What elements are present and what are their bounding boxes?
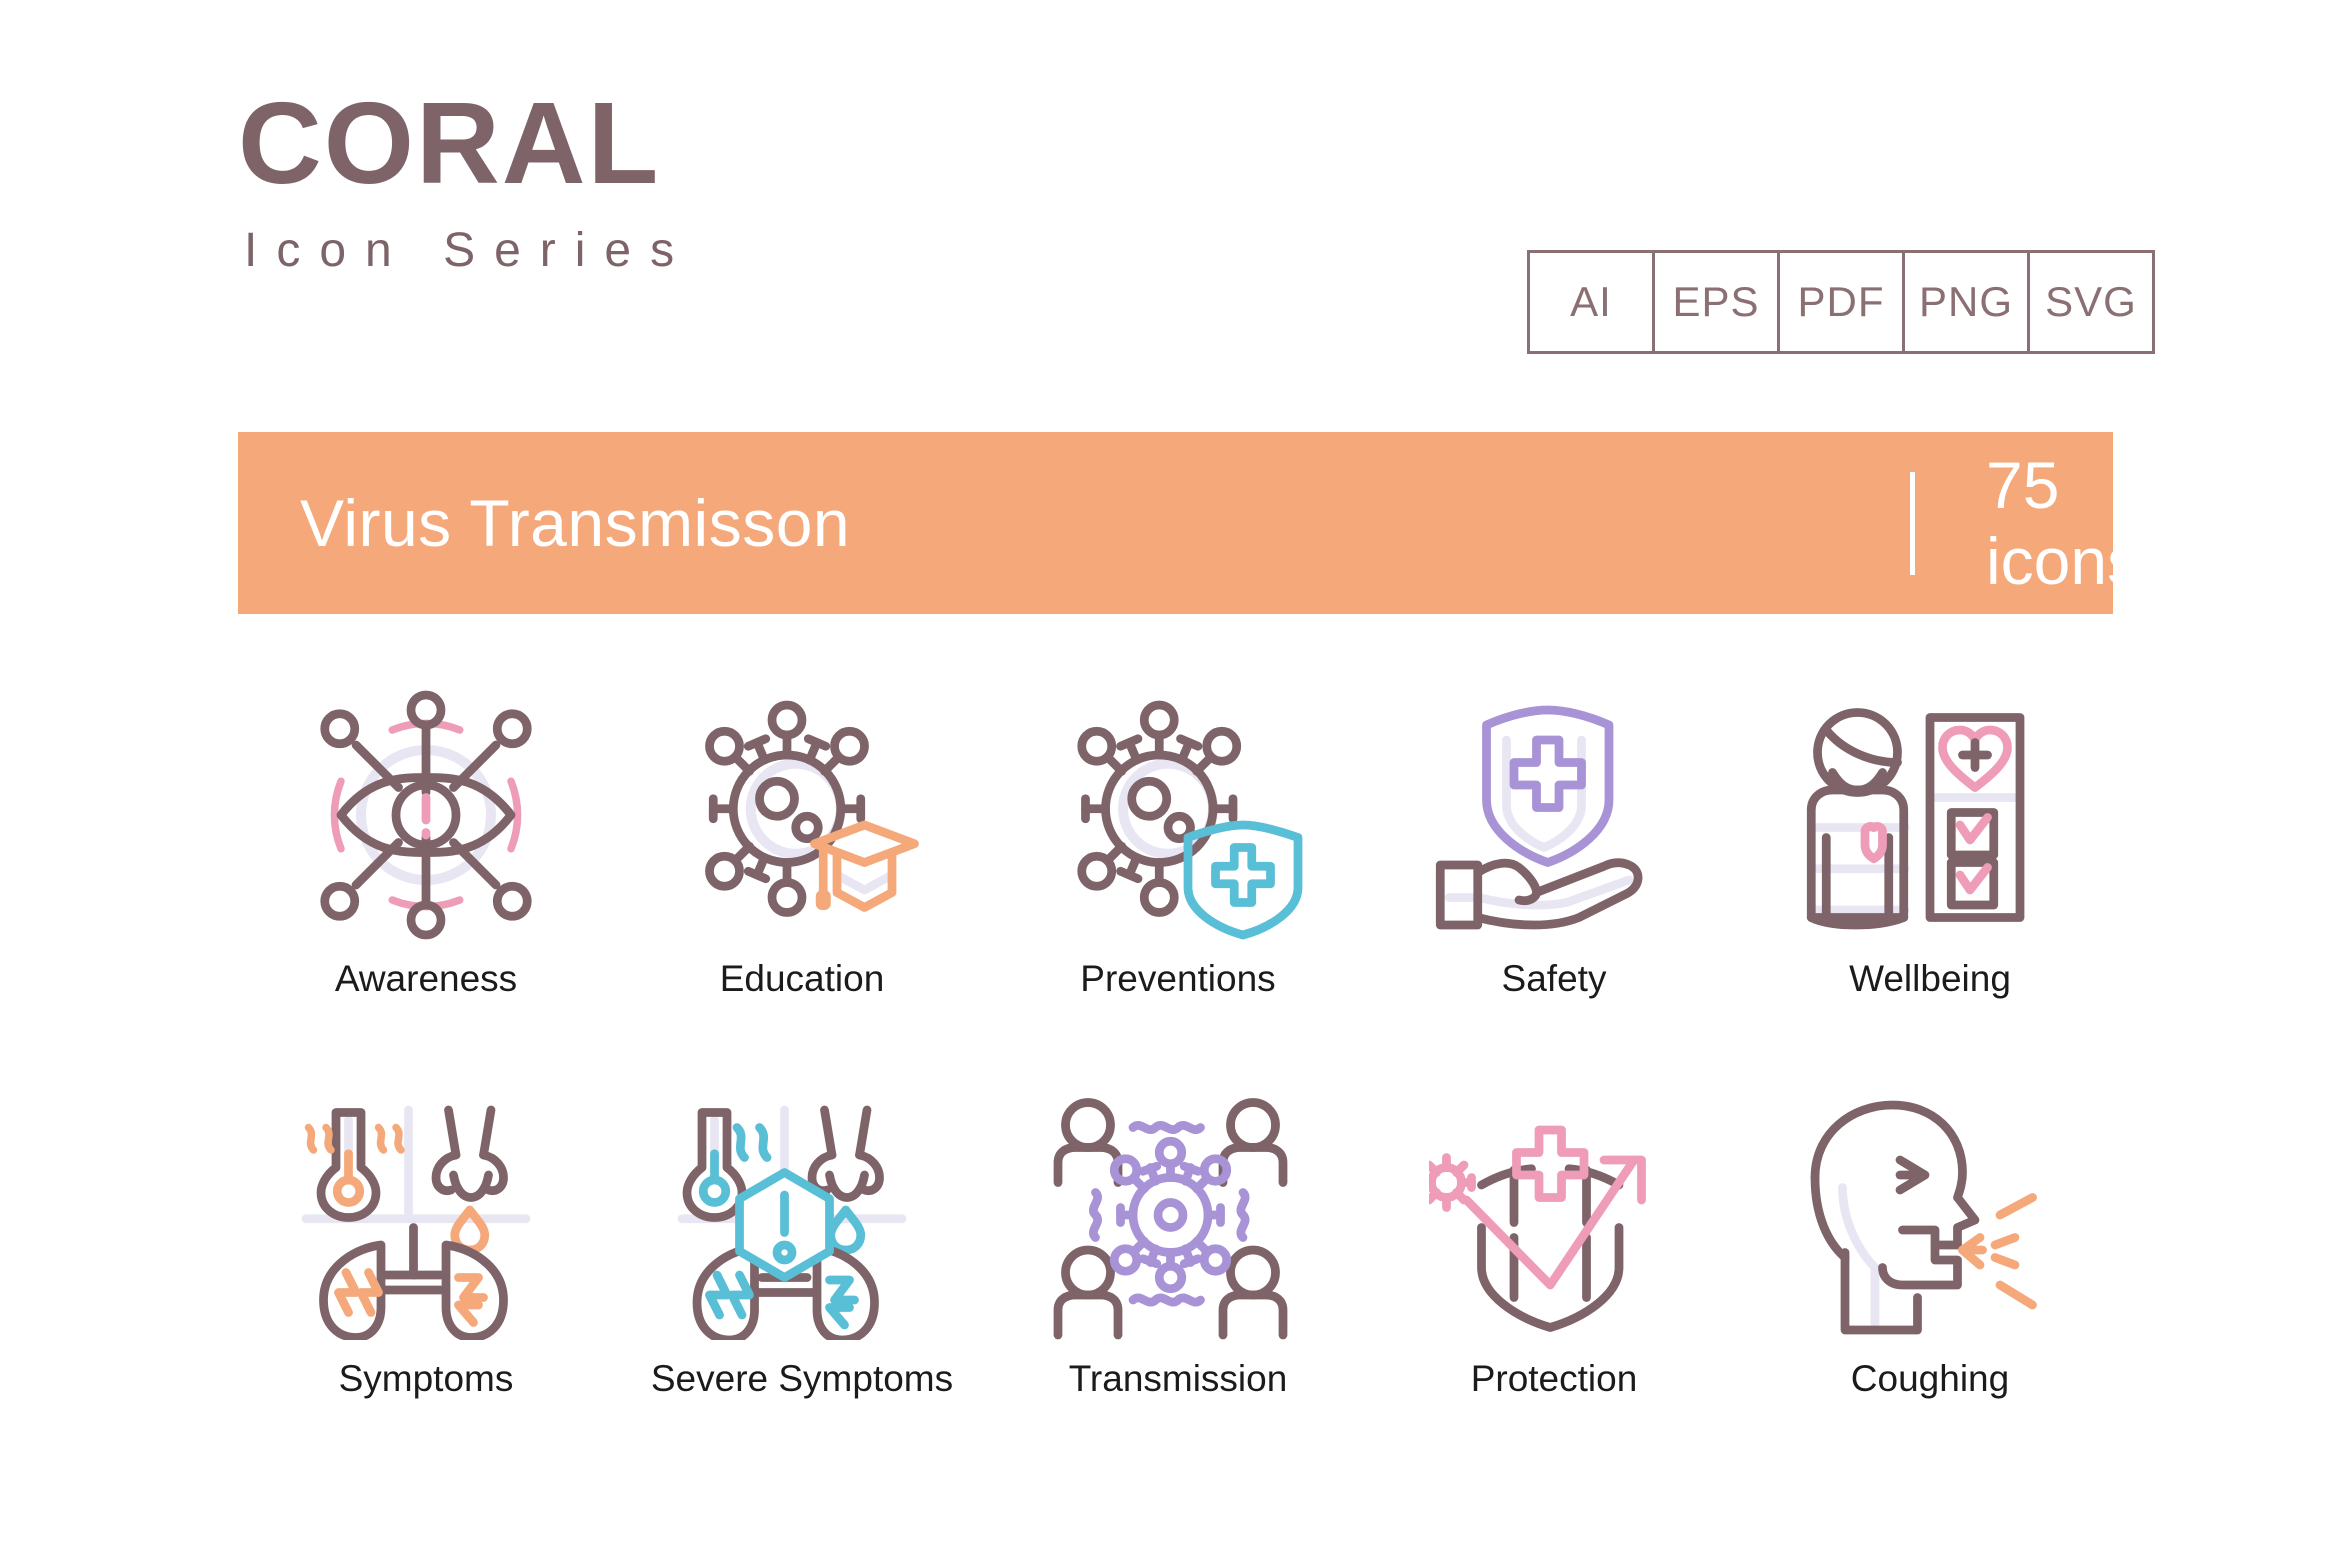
icon-label: Wellbeing (1849, 958, 2011, 1000)
person-health-chart-icon (1800, 680, 2060, 950)
virus-graduation-cap-icon (672, 680, 932, 950)
brand-subtitle: Icon Series (244, 223, 1138, 278)
icon-label: Preventions (1080, 958, 1275, 1000)
virus-shield-cross-icon (1048, 680, 1308, 950)
icon-label: Protection (1471, 1358, 1638, 1400)
file-format-badges: AI EPS PDF PNG SVG (1527, 250, 2155, 354)
icon-label: Symptoms (339, 1358, 514, 1400)
icon-cell-education[interactable]: Education (614, 680, 990, 1080)
icon-label: Safety (1502, 958, 1607, 1000)
page-header: CORAL Icon Series AI EPS PDF PNG SVG (0, 0, 2340, 400)
format-badge-ai[interactable]: AI (1530, 253, 1655, 351)
icon-cell-symptoms[interactable]: Symptoms (238, 1080, 614, 1480)
head-coughing-icon (1800, 1080, 2060, 1350)
thermometer-nose-lungs-icon (296, 1080, 556, 1350)
eye-awareness-icon (296, 680, 556, 950)
icon-label: Coughing (1851, 1358, 2009, 1400)
format-badge-pdf[interactable]: PDF (1780, 253, 1905, 351)
shield-in-hand-icon (1424, 680, 1684, 950)
icon-cell-wellbeing[interactable]: Wellbeing (1742, 680, 2118, 1080)
icon-label: Transmission (1069, 1358, 1288, 1400)
people-virus-spread-icon (1048, 1080, 1308, 1350)
banner-category-title: Virus Transmisson (300, 485, 850, 561)
shield-deflect-virus-icon (1424, 1080, 1684, 1350)
category-banner: Virus Transmisson 75 icons (238, 432, 2113, 614)
icon-cell-coughing[interactable]: Coughing (1742, 1080, 2118, 1480)
icon-label: Awareness (335, 958, 517, 1000)
severe-symptoms-warning-icon (672, 1080, 932, 1350)
format-badge-png[interactable]: PNG (1905, 253, 2030, 351)
banner-divider (1910, 472, 1915, 575)
icon-cell-severe-symptoms[interactable]: Severe Symptoms (614, 1080, 990, 1480)
icon-cell-safety[interactable]: Safety (1366, 680, 1742, 1080)
brand-block: CORAL Icon Series (238, 85, 1138, 278)
icon-cell-preventions[interactable]: Preventions (990, 680, 1366, 1080)
format-badge-svg[interactable]: SVG (2030, 253, 2152, 351)
icon-cell-awareness[interactable]: Awareness (238, 680, 614, 1080)
banner-icon-count: 75 icons (1986, 447, 2140, 599)
brand-title: CORAL (238, 85, 1138, 201)
icon-label: Education (720, 958, 885, 1000)
icon-cell-transmission[interactable]: Transmission (990, 1080, 1366, 1480)
icon-cell-protection[interactable]: Protection (1366, 1080, 1742, 1480)
format-badge-eps[interactable]: EPS (1655, 253, 1780, 351)
icon-label: Severe Symptoms (651, 1358, 953, 1400)
icon-grid: Awareness (238, 680, 2118, 1480)
